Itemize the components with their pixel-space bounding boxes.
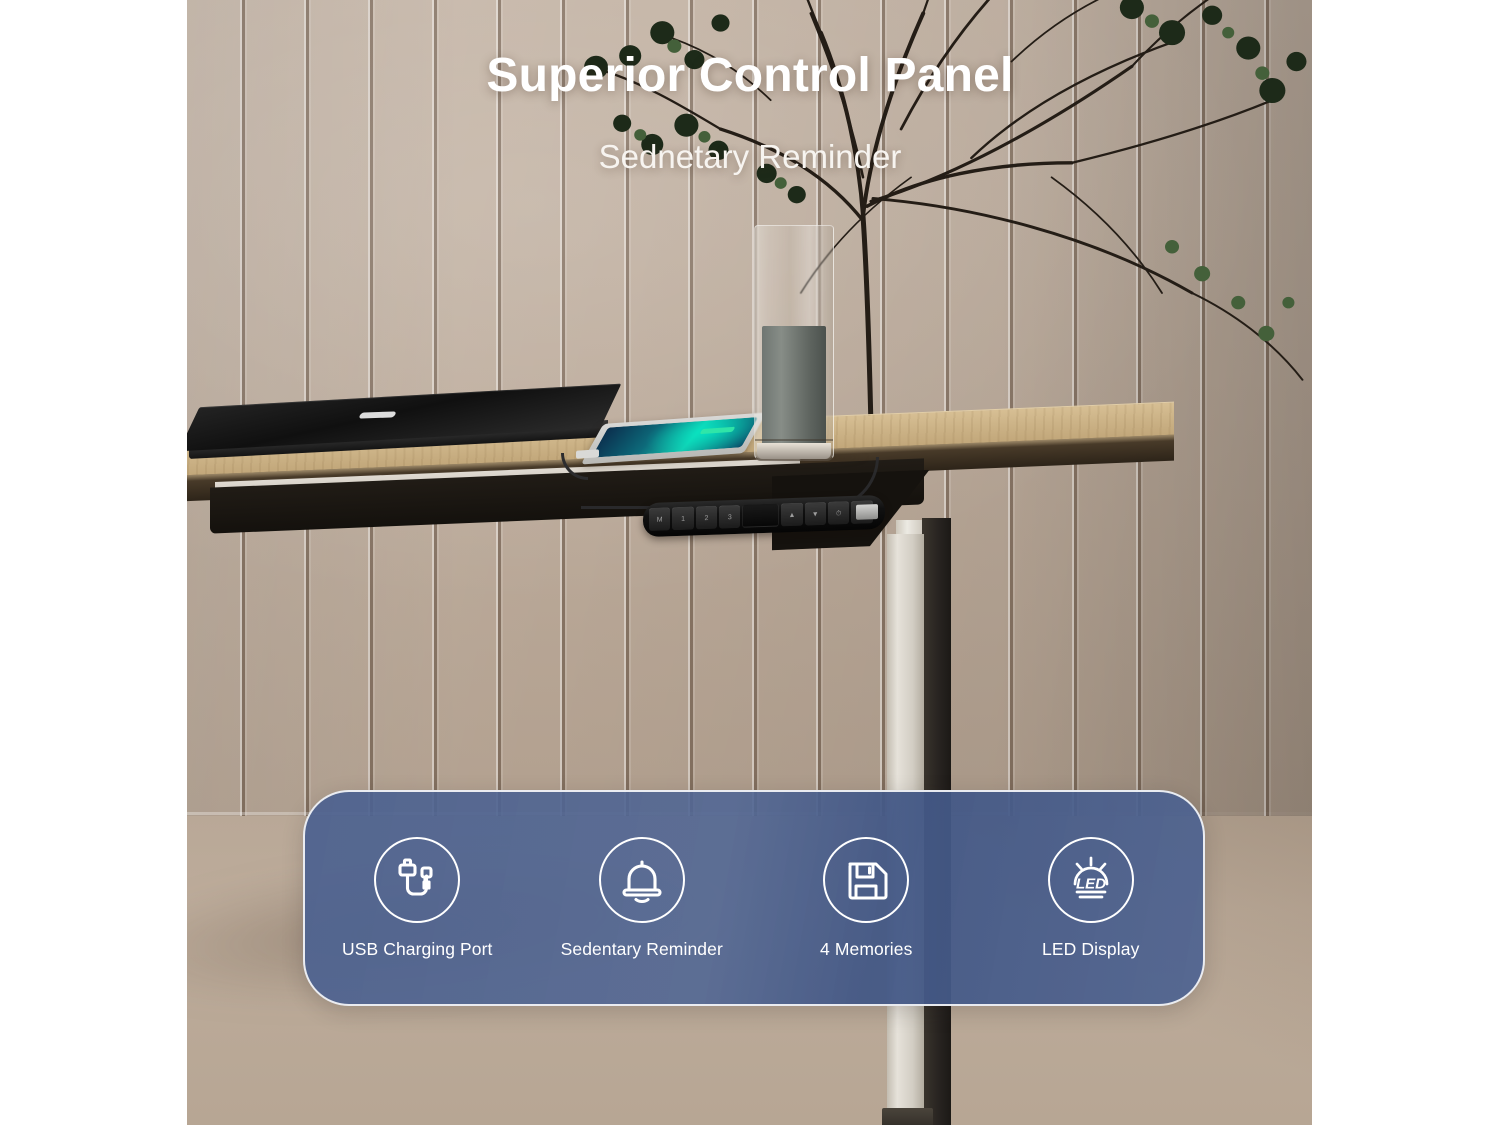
control-button-2[interactable]: 2 [695, 506, 716, 530]
vase-inner-block [762, 326, 826, 447]
feature-label-usb: USB Charging Port [342, 939, 493, 960]
feature-label-reminder: Sedentary Reminder [561, 939, 723, 960]
usb-cable-icon [374, 837, 460, 923]
usb-port[interactable] [855, 504, 877, 520]
page-subtitle: Sednetary Reminder [0, 138, 1500, 176]
feature-label-memories: 4 Memories [820, 939, 912, 960]
control-button-timer[interactable]: ⏱ [828, 501, 849, 525]
desk-leg-foot [882, 1108, 933, 1125]
feature-usb-charging-port[interactable]: USB Charging Port [305, 792, 530, 1004]
feature-sedentary-reminder[interactable]: Sedentary Reminder [530, 792, 755, 1004]
vase-ring [755, 439, 833, 441]
control-button-3[interactable]: 3 [719, 505, 740, 529]
floppy-disk-icon [823, 837, 909, 923]
feature-led-display[interactable]: LED LED Display [979, 792, 1204, 1004]
control-panel-buttons: M 1 2 3 ▲ ▼ ⏱ ↺ [649, 500, 879, 531]
smartphone-screen [591, 417, 758, 458]
control-button-down[interactable]: ▼ [804, 502, 825, 526]
smartphone-charge-indicator [699, 426, 735, 434]
feature-4-memories[interactable]: 4 Memories [754, 792, 979, 1004]
laptop-logo [359, 411, 397, 418]
control-button-1[interactable]: 1 [672, 507, 693, 531]
product-image-stage: M 1 2 3 ▲ ▼ ⏱ ↺ Superior Control Panel S… [0, 0, 1500, 1125]
control-button-up[interactable]: ▲ [781, 503, 802, 527]
feature-card: USB Charging Port Sedentary Reminder [303, 790, 1205, 1006]
svg-text:LED: LED [1076, 875, 1106, 892]
control-button-m[interactable]: M [649, 508, 670, 532]
glass-vase [754, 225, 834, 461]
led-lamp-icon: LED [1048, 837, 1134, 923]
control-panel-led-display [742, 504, 779, 528]
page-title: Superior Control Panel [0, 48, 1500, 103]
bell-icon [599, 837, 685, 923]
feature-label-led: LED Display [1042, 939, 1139, 960]
